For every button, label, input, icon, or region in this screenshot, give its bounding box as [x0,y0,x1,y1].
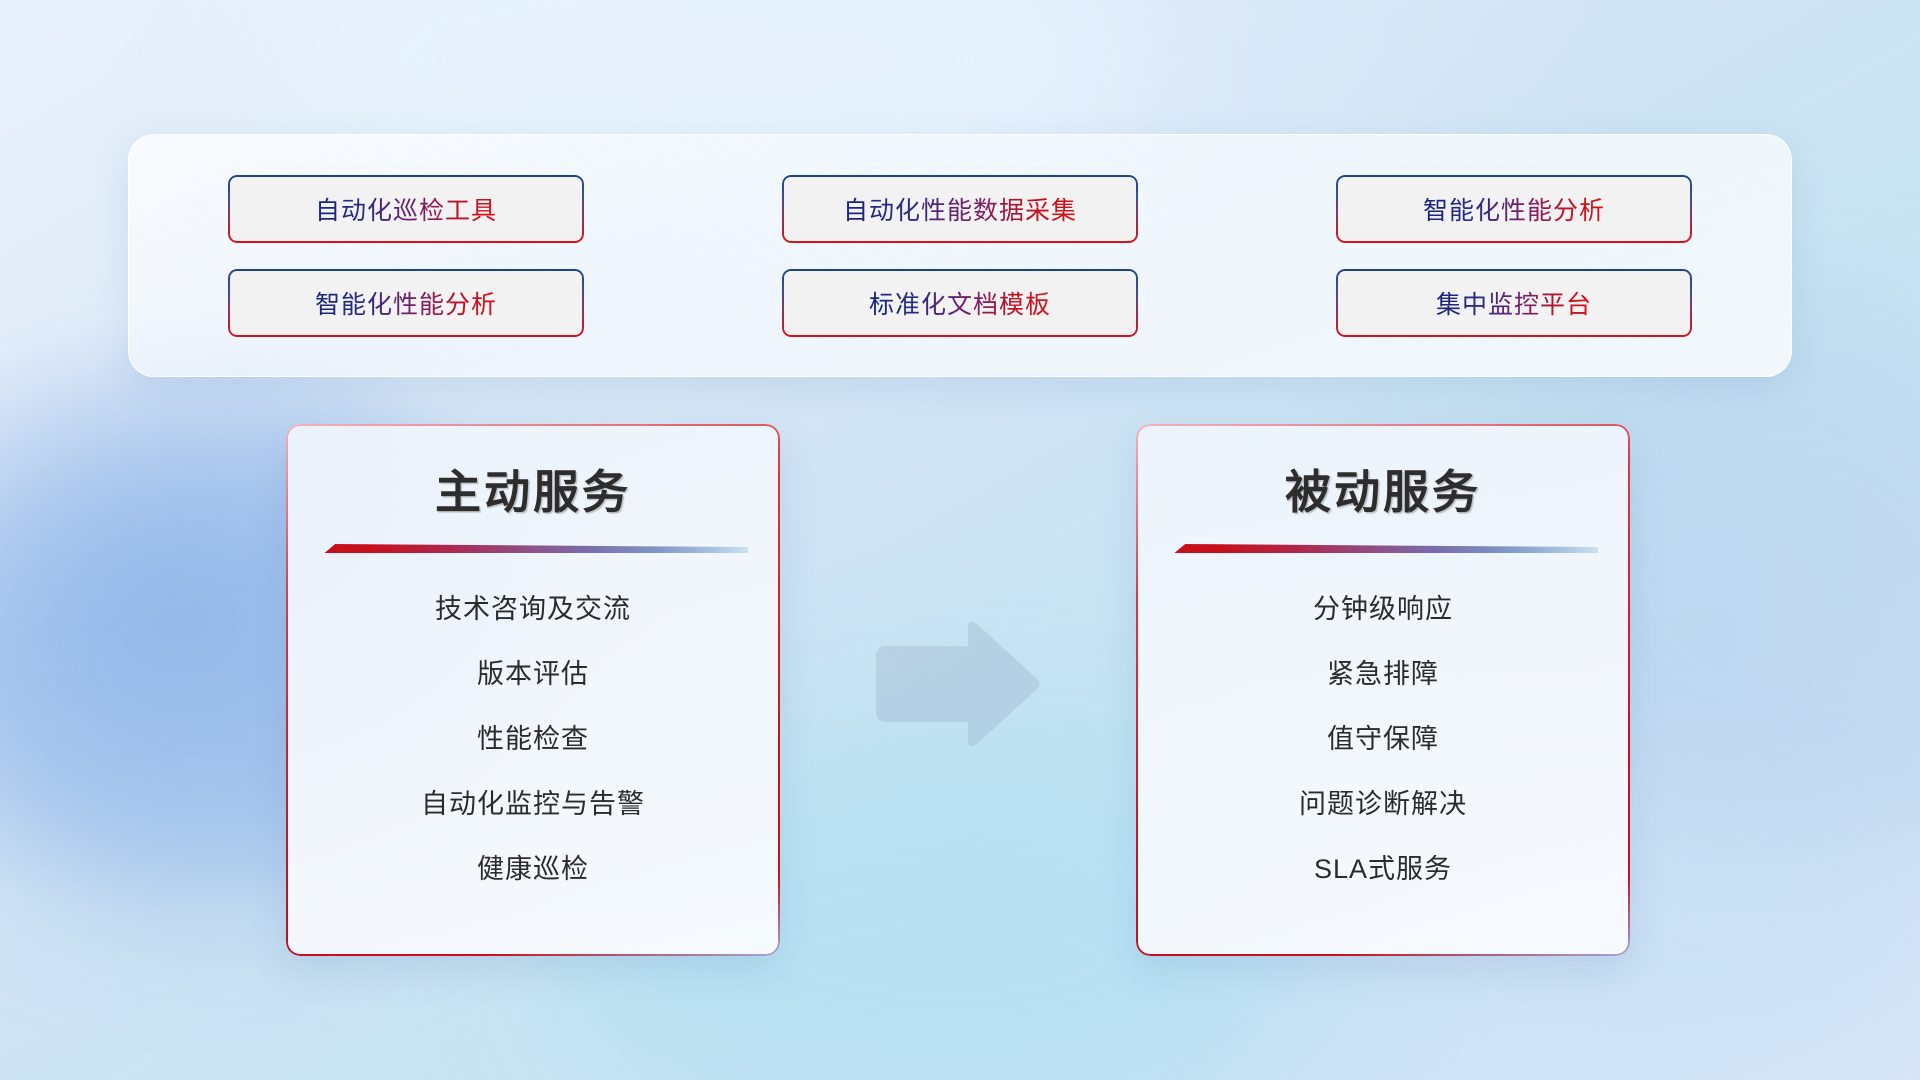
list-item: 技术咨询及交流 [435,587,631,626]
list-item: 问题诊断解决 [1299,782,1467,821]
card-title-proactive: 主动服务 [286,424,780,522]
list-item: 版本评估 [477,652,589,691]
capability-chip-intelligent-performance-analysis[interactable]: 智能化性能分析 [1336,175,1692,243]
capability-chip-label: 智能化性能分析 [1423,191,1605,227]
capability-chip-label: 智能化性能分析 [315,285,497,321]
list-item: 紧急排障 [1327,652,1439,691]
capability-row-2: 智能化性能分析 标准化文档模板 集中监控平台 [129,269,1791,337]
capability-panel: 自动化巡检工具 自动化性能数据采集 智能化性能分析 智能化性能分析 标准化文档模… [128,134,1792,377]
capability-chip-label: 集中监控平台 [1436,285,1592,321]
service-card-reactive: 被动服务 分钟级响应 紧急排障 值守保障 问题诊断解决 SLA式服务 [1136,424,1630,956]
capability-row-1: 自动化巡检工具 自动化性能数据采集 智能化性能分析 [129,175,1791,243]
capability-chip-automated-performance-data-collection[interactable]: 自动化性能数据采集 [782,175,1138,243]
card-title-reactive: 被动服务 [1136,424,1630,522]
service-list-proactive: 技术咨询及交流 版本评估 性能检查 自动化监控与告警 健康巡检 [286,553,780,886]
list-item: 自动化监控与告警 [421,782,645,821]
list-item: 健康巡检 [477,847,589,886]
card-divider [318,544,748,553]
capability-chip-label: 自动化巡检工具 [315,191,497,227]
service-list-reactive: 分钟级响应 紧急排障 值守保障 问题诊断解决 SLA式服务 [1136,553,1630,886]
capability-chip-label: 标准化文档模板 [869,285,1051,321]
list-item: 值守保障 [1327,717,1439,756]
capability-chip-standardized-document-template[interactable]: 标准化文档模板 [782,269,1138,337]
capability-chip-centralized-monitoring-platform[interactable]: 集中监控平台 [1336,269,1692,337]
card-divider [1168,544,1598,553]
list-item: 分钟级响应 [1313,587,1453,626]
service-card-proactive: 主动服务 技术咨询及交流 版本评估 性能检查 自动化监控与告警 健康巡检 [286,424,780,956]
list-item: 性能检查 [477,717,589,756]
list-item: SLA式服务 [1314,847,1452,886]
capability-chip-label: 自动化性能数据采集 [843,191,1077,227]
arrow-right-icon [870,618,1042,750]
capability-chip-intelligent-performance-analysis-2[interactable]: 智能化性能分析 [228,269,584,337]
capability-chip-automated-inspection-tool[interactable]: 自动化巡检工具 [228,175,584,243]
slide-canvas: 自动化巡检工具 自动化性能数据采集 智能化性能分析 智能化性能分析 标准化文档模… [0,0,1920,1080]
